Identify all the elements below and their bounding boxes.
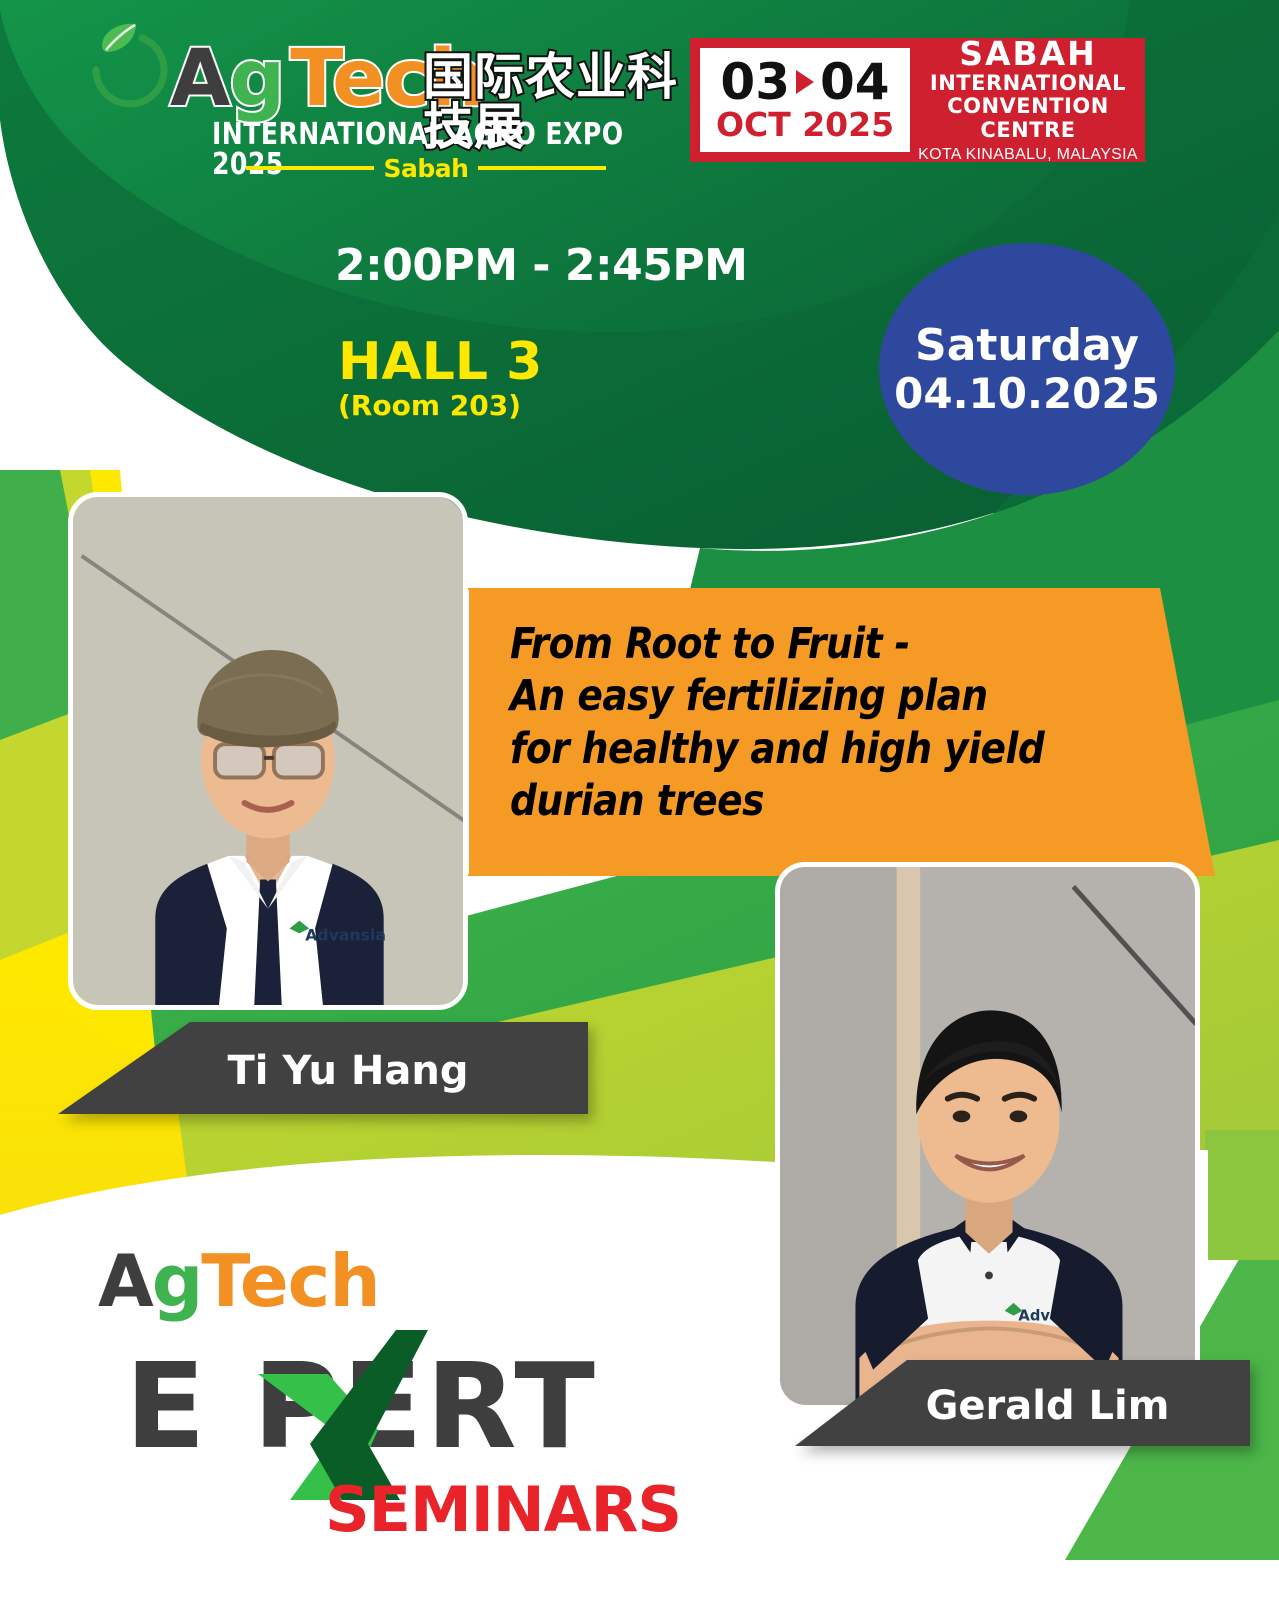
talk-title-line-3: for healthy and high yield [510,723,1141,775]
speaker-1-nameplate: Ti Yu Hang [58,1022,588,1114]
talk-title: From Root to Fruit - An easy fertilizing… [510,618,1141,828]
speaker-photo-2: Advansia [775,862,1200,1410]
logo-letter-a: A [170,34,229,124]
speaker-2-name: Gerald Lim [795,1360,1250,1446]
agtech-expert-seminars-logo: AgTech E PERT SEMINARS [70,1245,690,1560]
day-range: 03 04 [720,57,889,107]
talk-title-line-4: durian trees [510,775,1141,827]
talk-title-line-1: From Root to Fruit - [510,618,1141,670]
logo-location-row: Sabah [246,156,606,180]
footer-logo-word-tech: Tech [201,1239,379,1323]
talk-title-line-2: An easy fertilizing plan [510,670,1141,722]
speaker-2-nameplate: Gerald Lim [795,1360,1250,1446]
session-hall: HALL 3 [338,336,542,388]
session-day-name: Saturday [915,321,1139,370]
logo-location: Sabah [384,156,469,181]
date-block: 03 04 OCT 2025 [700,48,910,152]
play-arrow-icon [796,70,814,94]
session-day-circle: Saturday 04.10.2025 [879,243,1175,495]
day-end: 04 [820,57,890,107]
rule-right [478,166,606,170]
footer-logo-agtech: AgTech [98,1245,380,1317]
session-date: 04.10.2025 [894,370,1160,417]
logo-letter-g: g [229,34,284,124]
session-room: (Room 203) [338,392,521,420]
poster-header: AgTech 国际农业科技展 INTERNATIONAL AGRO EXPO 2… [0,0,1279,168]
date-venue-badge: 03 04 OCT 2025 SABAH INTERNATIONAL CONVE… [690,38,1145,162]
rule-left [246,166,374,170]
seminar-poster: AgTech 国际农业科技展 INTERNATIONAL AGRO EXPO 2… [0,0,1279,1600]
venue-line-4: KOTA KINABALU, MALAYSIA [918,145,1138,164]
footer-logo-expert: E PERT [100,1337,670,1477]
footer-logo-letter-a: A [98,1239,152,1323]
session-time: 2:00PM - 2:45PM [335,244,747,288]
agtech-expo-logo: AgTech 国际农业科技展 INTERNATIONAL AGRO EXPO 2… [78,18,678,166]
day-start: 03 [720,57,790,107]
speaker-photo-1: Advansia [68,492,468,1010]
venue-line-3: CONVENTION CENTRE [912,95,1144,142]
footer-logo-letter-g: g [152,1239,202,1323]
talk-title-banner: From Root to Fruit - An easy fertilizing… [460,588,1215,876]
footer-logo-seminars: SEMINARS [325,1479,681,1541]
speaker-2-image: Advansia [780,867,1195,1405]
venue-line-2: INTERNATIONAL [930,72,1126,96]
speaker-1-name: Ti Yu Hang [58,1022,588,1114]
month-year: OCT 2025 [716,107,894,143]
svg-text:Advansia: Advansia [305,925,386,944]
venue-line-1: SABAH [959,36,1097,72]
speaker-1-image: Advansia [73,497,463,1005]
venue-block: SABAH INTERNATIONAL CONVENTION CENTRE KO… [912,46,1144,154]
